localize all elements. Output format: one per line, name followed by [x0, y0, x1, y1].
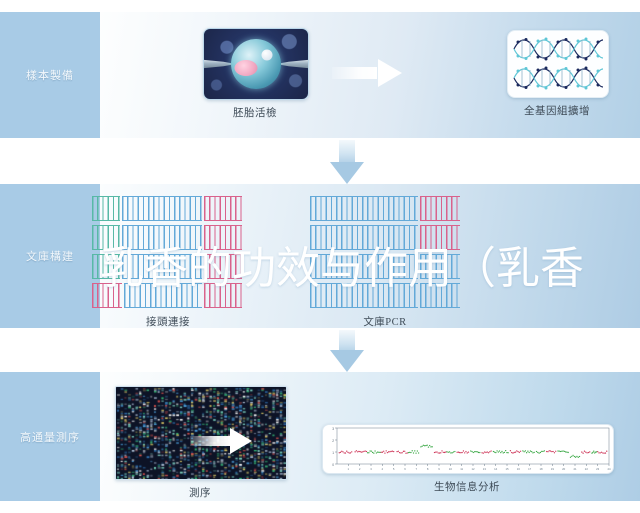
insert-segment-blue [122, 196, 202, 221]
insert-segment-blue [310, 196, 418, 221]
pipette-left-icon [204, 59, 231, 70]
dna-fragment-row [310, 225, 460, 248]
svg-text:1: 1 [348, 467, 350, 471]
arrow-shaft [190, 436, 230, 446]
stage-label-library-construction: 文庫構建 [0, 184, 100, 328]
adapter-segment-pink [204, 225, 242, 250]
stage-label-high-throughput-sequencing: 高通量測序 [0, 372, 100, 501]
insert-segment-blue [420, 254, 460, 279]
node-whole-genome-amplification: 全基因組擴增 [507, 30, 607, 118]
arrow-shaft [332, 67, 377, 78]
caption-sequencing: 測序 [115, 485, 285, 500]
svg-text:1: 1 [332, 451, 334, 455]
adapter-segment-pink [204, 254, 242, 279]
insert-segment-blue [122, 254, 202, 279]
caption-whole-genome-amplification: 全基因組擴增 [507, 103, 607, 118]
arrow-head [330, 350, 364, 372]
svg-text:14: 14 [494, 467, 498, 471]
adapter-segment-green [92, 254, 120, 279]
svg-text:11: 11 [460, 467, 463, 471]
dna-fragment-row [92, 283, 244, 306]
dna-fragment-row [92, 196, 244, 219]
adapter-segment-pink [420, 225, 460, 250]
svg-text:22: 22 [585, 467, 589, 471]
dna-fragment-row [310, 283, 460, 306]
stage-row-sample-prep: 樣本製備 胚胎活檢 [0, 12, 640, 138]
dna-helix-image [507, 30, 609, 98]
caption-embryo-biopsy: 胚胎活檢 [203, 105, 307, 120]
inner-cell-mass-icon [235, 60, 258, 76]
arrow-right-sequencing-to-bioinformatics [190, 428, 252, 454]
svg-text:7: 7 [416, 467, 418, 471]
svg-text:21: 21 [573, 467, 577, 471]
arrow-head [230, 428, 252, 454]
svg-text:4: 4 [382, 467, 384, 471]
adapter-segment-pink [420, 196, 460, 221]
svg-text:15: 15 [505, 467, 509, 471]
polar-body-icon [262, 50, 273, 61]
svg-text:6: 6 [404, 467, 406, 471]
svg-text:0: 0 [332, 463, 334, 467]
arrow-head [378, 59, 402, 87]
insert-segment-blue [310, 225, 418, 250]
svg-text:20: 20 [562, 467, 566, 471]
caption-bioinformatics-analysis: 生物信息分析 [322, 479, 612, 494]
copy-number-chart-svg: 0123123456789101112131415161718192021222… [323, 425, 613, 473]
dna-fragment-row [92, 254, 244, 277]
insert-segment-blue [310, 283, 418, 308]
svg-text:23: 23 [596, 467, 600, 471]
adapter-segment-green [92, 196, 120, 221]
svg-text:3: 3 [370, 467, 372, 471]
svg-text:17: 17 [528, 467, 532, 471]
insert-segment-blue [124, 283, 202, 308]
dna-fragment-row [310, 254, 460, 277]
dna-helix-icon-bottom [512, 65, 604, 91]
embryo-biopsy-image [203, 28, 309, 100]
ngs-workflow-diagram: 樣本製備 胚胎活檢 [0, 0, 640, 513]
adapter-segment-green [92, 225, 120, 250]
arrow-head [330, 162, 364, 184]
adapter-segment-pink [92, 283, 122, 308]
svg-text:19: 19 [551, 467, 555, 471]
svg-text:12: 12 [471, 467, 475, 471]
svg-text:10: 10 [449, 467, 453, 471]
svg-text:24: 24 [607, 467, 611, 471]
svg-text:18: 18 [539, 467, 543, 471]
caption-adapter-ligation: 接頭連接 [92, 314, 244, 329]
arrow-down-row1-to-row2 [330, 140, 364, 184]
insert-segment-blue [310, 254, 418, 279]
copy-number-chart: 0123123456789101112131415161718192021222… [322, 424, 614, 474]
caption-library-pcr: 文庫PCR [310, 314, 460, 329]
dna-helix-icon-top [512, 36, 604, 62]
dna-fragment-row [310, 196, 460, 219]
svg-text:3: 3 [332, 427, 334, 431]
insert-segment-blue [122, 225, 202, 250]
svg-text:2: 2 [359, 467, 361, 471]
insert-segment-blue [420, 283, 460, 308]
pipette-right-icon [281, 59, 308, 70]
svg-text:13: 13 [483, 467, 487, 471]
node-embryo-biopsy: 胚胎活檢 [203, 28, 307, 120]
svg-text:9: 9 [438, 467, 440, 471]
stage-body-sample-prep: 胚胎活檢 [100, 12, 640, 138]
node-bioinformatics-analysis: 0123123456789101112131415161718192021222… [322, 424, 612, 494]
arrow-down-row2-to-row3 [330, 330, 364, 372]
adapter-segment-pink [204, 196, 242, 221]
embryo-cell-icon [231, 39, 281, 89]
svg-text:8: 8 [427, 467, 429, 471]
svg-text:2: 2 [332, 439, 334, 443]
adapter-segment-pink [204, 283, 242, 308]
svg-text:16: 16 [517, 467, 521, 471]
node-adapter-ligation: 接頭連接 [92, 196, 244, 312]
arrow-right-biopsy-to-wga [332, 59, 402, 87]
dna-fragment-row [92, 225, 244, 248]
svg-text:5: 5 [393, 467, 395, 471]
node-library-pcr: 文庫PCR [310, 196, 460, 312]
stage-label-sample-prep: 樣本製備 [0, 12, 100, 138]
